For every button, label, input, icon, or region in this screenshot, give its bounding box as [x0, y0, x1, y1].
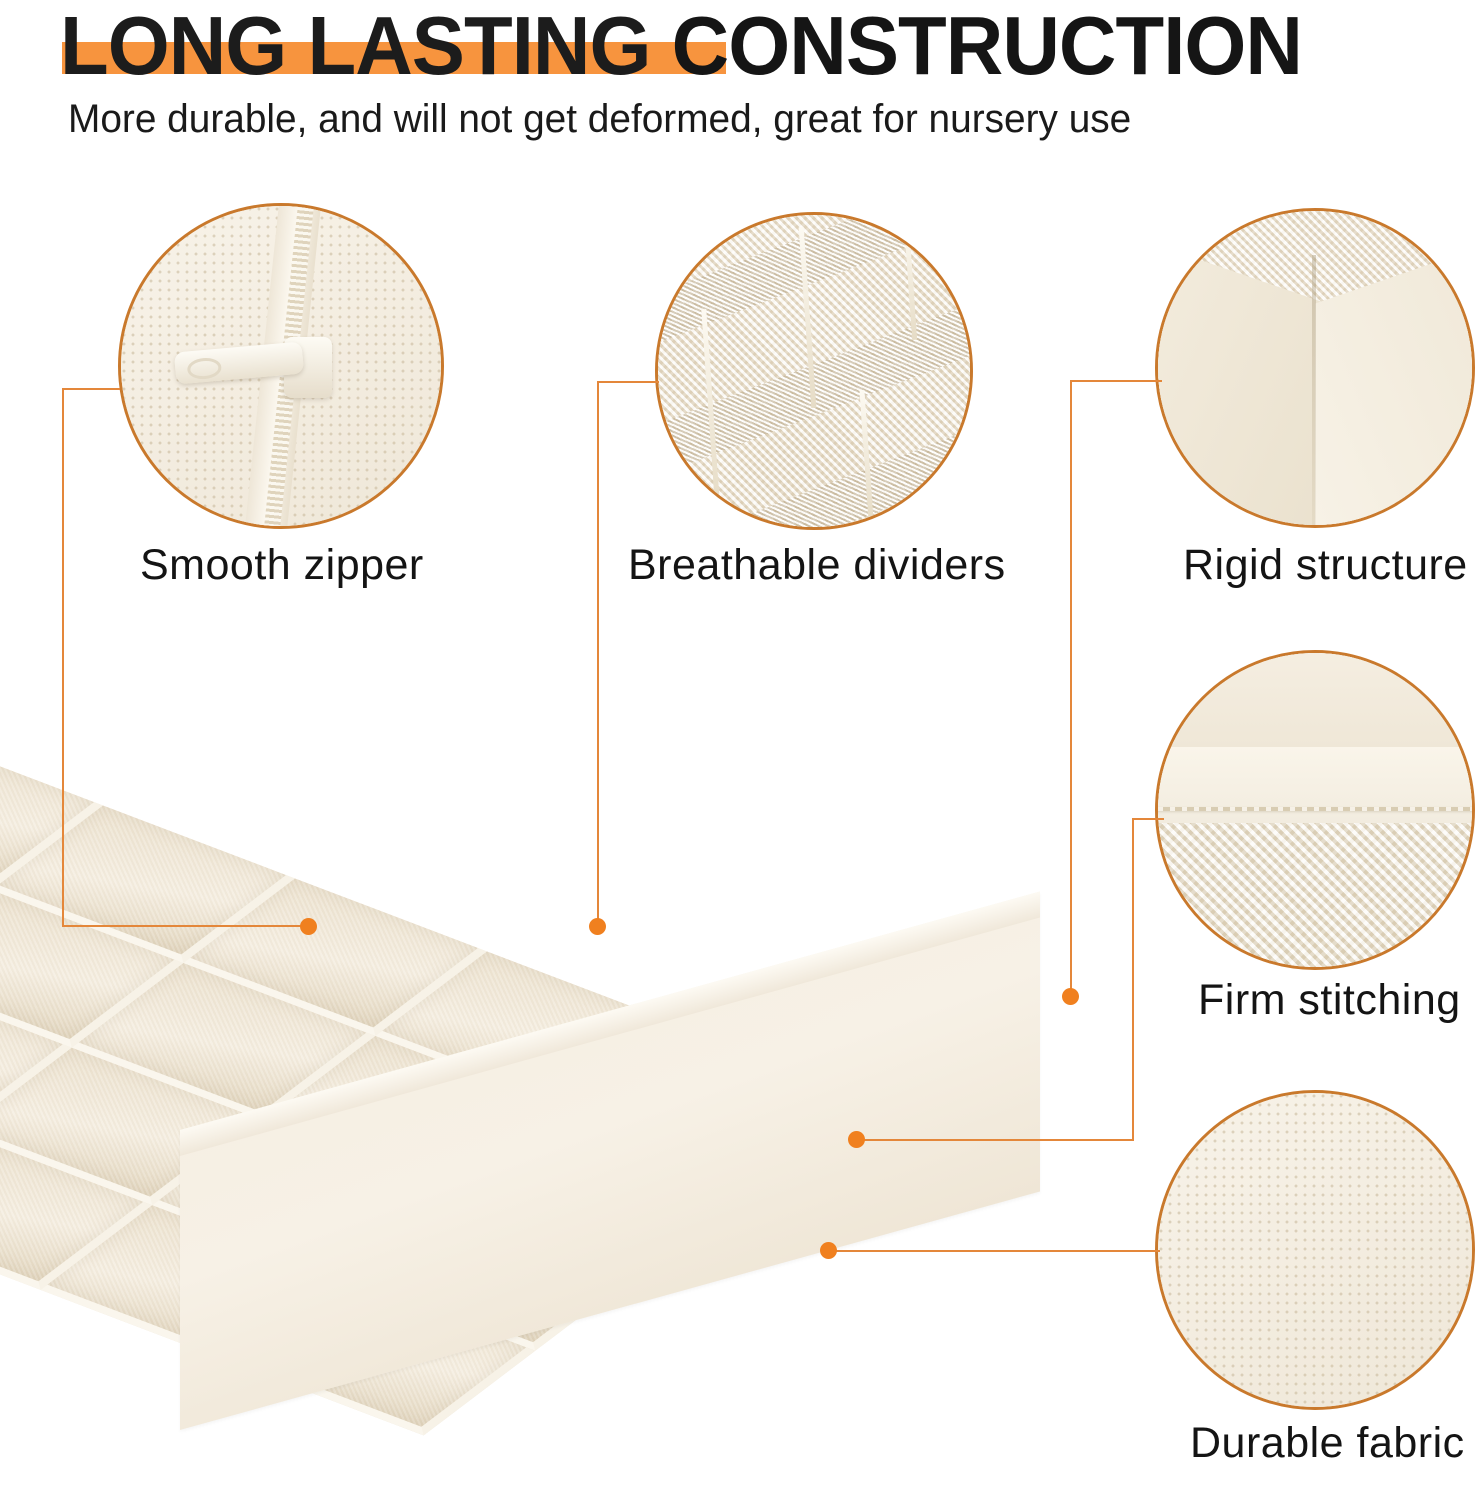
- fabric-band-middle: [1155, 747, 1475, 822]
- callout-image-smooth-zipper: [118, 203, 444, 529]
- callout-label-smooth-zipper: Smooth zipper: [140, 540, 424, 590]
- connector-rigid-structure: [1070, 380, 1162, 382]
- infographic-canvas: LONG LASTING CONSTRUCTION More durable, …: [0, 0, 1483, 1500]
- fabric-texture: [1158, 1093, 1472, 1407]
- callout-image-breathable-dividers: [655, 212, 973, 530]
- corner-seam: [1312, 255, 1316, 525]
- callout-image-durable-fabric: [1155, 1090, 1475, 1410]
- connector-dot-breathable-dividers: [589, 918, 606, 935]
- callout-label-firm-stitching: Firm stitching: [1198, 975, 1461, 1025]
- page-subtitle: More durable, and will not get deformed,…: [68, 96, 1329, 142]
- connector-durable-fabric: [835, 1250, 1160, 1252]
- connector-dot-firm-stitching: [848, 1131, 865, 1148]
- connector-firm-stitching: [1132, 818, 1134, 1140]
- callout-image-rigid-structure: [1155, 208, 1475, 528]
- connector-dot-durable-fabric: [820, 1242, 837, 1259]
- product-photo: [0, 600, 1140, 1500]
- stitch-seam: [1155, 807, 1475, 811]
- callout-image-firm-stitching: [1155, 650, 1475, 970]
- organizer-illustration: [0, 600, 1140, 1500]
- connector-dot-smooth-zipper: [300, 918, 317, 935]
- title-rest-text: CONSTRUCTION: [672, 0, 1302, 92]
- title-highlight-text: LONG LASTING: [60, 0, 650, 92]
- callout-label-durable-fabric: Durable fabric: [1190, 1418, 1465, 1468]
- connector-breathable-dividers: [597, 381, 659, 383]
- connector-rigid-structure: [1070, 380, 1072, 996]
- connector-firm-stitching: [1132, 818, 1164, 820]
- callout-label-rigid-structure: Rigid structure: [1183, 540, 1468, 590]
- fabric-band-upper: [1155, 653, 1475, 747]
- connector-smooth-zipper: [62, 925, 309, 927]
- connector-smooth-zipper: [62, 388, 120, 390]
- connector-dot-rigid-structure: [1062, 988, 1079, 1005]
- callout-label-breathable-dividers: Breathable dividers: [628, 540, 1006, 590]
- connector-smooth-zipper: [62, 388, 64, 926]
- connector-firm-stitching: [862, 1139, 1134, 1141]
- page-title: LONG LASTING CONSTRUCTION: [60, 0, 1423, 92]
- connector-breathable-dividers: [597, 381, 599, 926]
